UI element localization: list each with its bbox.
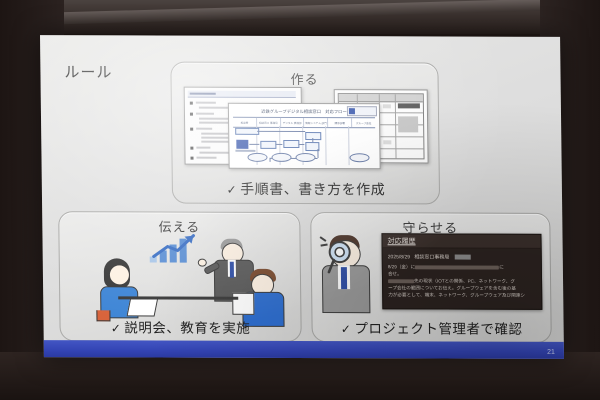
redaction-block — [455, 255, 471, 260]
check-icon: ✓ — [111, 321, 122, 335]
response-history-header: 対応履歴 — [382, 234, 540, 249]
flowchart-document: 近鉄グループデジタル相談窓口 対応フロー 相談者 相談窓口 事務局 デジタル 推… — [228, 103, 381, 170]
bar-chart-icon — [147, 230, 201, 266]
projected-slide-photo: ルール 作る — [0, 0, 600, 400]
response-history-date: 2025/8/29 — [388, 254, 410, 260]
response-history-meta: 2025/8/29 相談窓口事務局 — [388, 253, 471, 260]
card-create: 作る — [170, 62, 440, 205]
magnifier-person-illustration — [319, 235, 378, 313]
growth-arrow-icon — [151, 232, 197, 258]
check-icon: ✓ — [341, 322, 352, 336]
slide-surface: ルール 作る — [40, 35, 564, 359]
response-history-body-line: ープ会社の範囲についてお伝え。グループウェアを含む後の基 — [388, 285, 536, 290]
card-enforce: 守らせる 対応履歴 2025/8 — [310, 212, 552, 343]
meeting-illustration — [59, 228, 300, 325]
table-surface — [118, 296, 238, 299]
room-wall-bottom — [0, 352, 600, 400]
document-stack: 近鉄グループデジタル相談窓口 対応フロー 相談者 相談窓口 事務局 デジタル 推… — [184, 85, 429, 172]
flowchart-body — [233, 126, 375, 165]
response-history-body-line: 8/29（金）にに — [388, 264, 536, 269]
card-create-caption: ✓手順書、書き方を作成 — [173, 179, 439, 200]
flowchart-title: 近鉄グループデジタル相談窓口 対応フロー — [233, 107, 375, 116]
card-enforce-caption: ✓プロジェクト管理者で確認 — [312, 317, 550, 338]
attendee-figure-left — [98, 258, 155, 320]
response-history-body-line: 力が必要として、端末、ネットワーク、グループウェア及び関連シ — [388, 292, 536, 297]
card-communicate-caption-text: 説明会、教育を実施 — [124, 320, 250, 335]
check-icon: ✓ — [227, 183, 238, 197]
document-header-bar — [188, 91, 296, 98]
card-create-caption-text: 手順書、書き方を作成 — [240, 181, 385, 198]
response-history-title: 対応履歴 — [387, 236, 415, 246]
magnifier-icon — [324, 239, 358, 279]
card-communicate: 伝える — [58, 211, 302, 342]
response-history-body-line: 先の現状（IOTとの関係、PC、ネットワーク、グ — [388, 278, 536, 283]
response-history-author: 相談窓口事務局 — [414, 254, 449, 260]
response-history-body-line: 合せ。 — [388, 271, 536, 276]
card-enforce-caption-text: プロジェクト管理者で確認 — [354, 321, 522, 337]
page-title: ルール — [64, 61, 112, 82]
slide-footer-bar: 21 — [44, 340, 564, 359]
card-communicate-caption: ✓説明会、教育を実施 — [60, 316, 300, 337]
page-number: 21 — [547, 349, 555, 356]
response-history-panel: 対応履歴 2025/8/29 相談窓口事務局 8/29（金）にに 合せ。 先の現… — [381, 233, 542, 310]
